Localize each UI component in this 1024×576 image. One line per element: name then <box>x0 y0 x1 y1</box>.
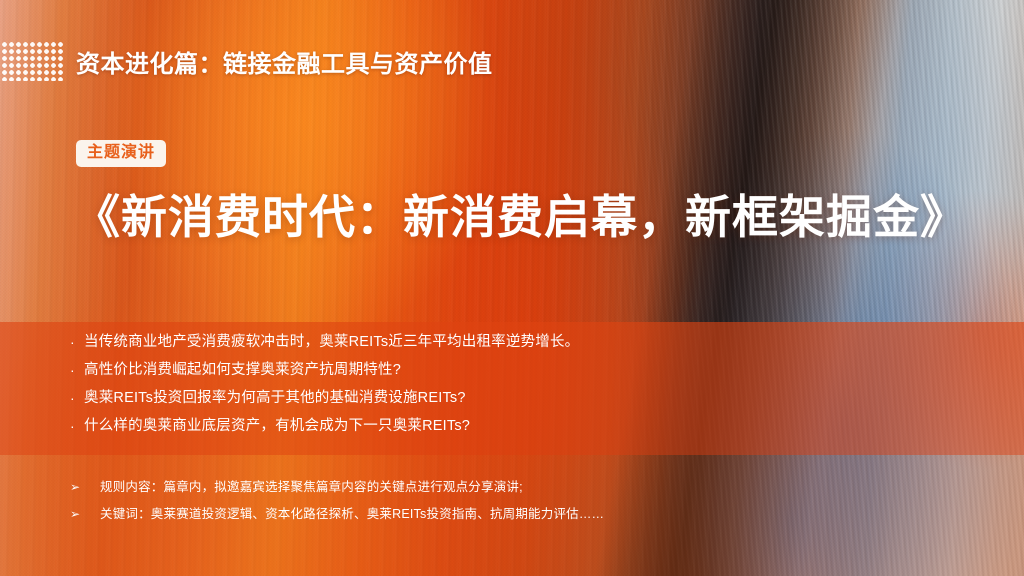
list-item: ➢ 关键词：奥莱赛道投资逻辑、资本化路径探析、奥莱REITs投资指南、抗周期能力… <box>70 506 970 523</box>
slide-root: 资本进化篇：链接金融工具与资产价值 主题演讲 《新消费时代：新消费启幕，新框架掘… <box>0 0 1024 576</box>
bullet-dot-icon: · <box>70 333 84 351</box>
list-item-label: 奥莱REITs投资回报率为何高于其他的基础消费设施REITs? <box>84 389 466 407</box>
status-badge: 主题演讲 <box>76 140 166 167</box>
list-item: · 什么样的奥莱商业底层资产，有机会成为下一只奥莱REITs? <box>70 417 950 435</box>
list-item: · 当传统商业地产受消费疲软冲击时，奥莱REITs近三年平均出租率逆势增长。 <box>70 333 950 351</box>
bullet-dot-icon: · <box>70 417 84 435</box>
arrow-bullet-icon: ➢ <box>70 506 100 523</box>
dot-grid-icon <box>0 40 63 81</box>
note-item-label: 规则内容：篇章内，拟邀嘉宾选择聚焦篇章内容的关键点进行观点分享演讲; <box>100 479 523 496</box>
bullet-dot-icon: · <box>70 389 84 407</box>
notes-list: ➢ 规则内容：篇章内，拟邀嘉宾选择聚焦篇章内容的关键点进行观点分享演讲; ➢ 关… <box>70 479 970 533</box>
list-item: ➢ 规则内容：篇章内，拟邀嘉宾选择聚焦篇章内容的关键点进行观点分享演讲; <box>70 479 970 496</box>
list-item-label: 当传统商业地产受消费疲软冲击时，奥莱REITs近三年平均出租率逆势增长。 <box>84 333 579 351</box>
arrow-bullet-icon: ➢ <box>70 479 100 496</box>
bullet-dot-icon: · <box>70 361 84 379</box>
list-item: · 奥莱REITs投资回报率为何高于其他的基础消费设施REITs? <box>70 389 950 407</box>
header-title: 资本进化篇：链接金融工具与资产价值 <box>76 44 493 79</box>
bullet-list: · 当传统商业地产受消费疲软冲击时，奥莱REITs近三年平均出租率逆势增长。 ·… <box>70 333 950 445</box>
list-item: · 高性价比消费崛起如何支撑奥莱资产抗周期特性? <box>70 361 950 379</box>
list-item-label: 什么样的奥莱商业底层资产，有机会成为下一只奥莱REITs? <box>84 417 470 435</box>
page-title: 《新消费时代：新消费启幕，新框架掘金》 <box>74 181 967 247</box>
note-item-label: 关键词：奥莱赛道投资逻辑、资本化路径探析、奥莱REITs投资指南、抗周期能力评估… <box>100 506 604 523</box>
list-item-label: 高性价比消费崛起如何支撑奥莱资产抗周期特性? <box>84 361 401 379</box>
